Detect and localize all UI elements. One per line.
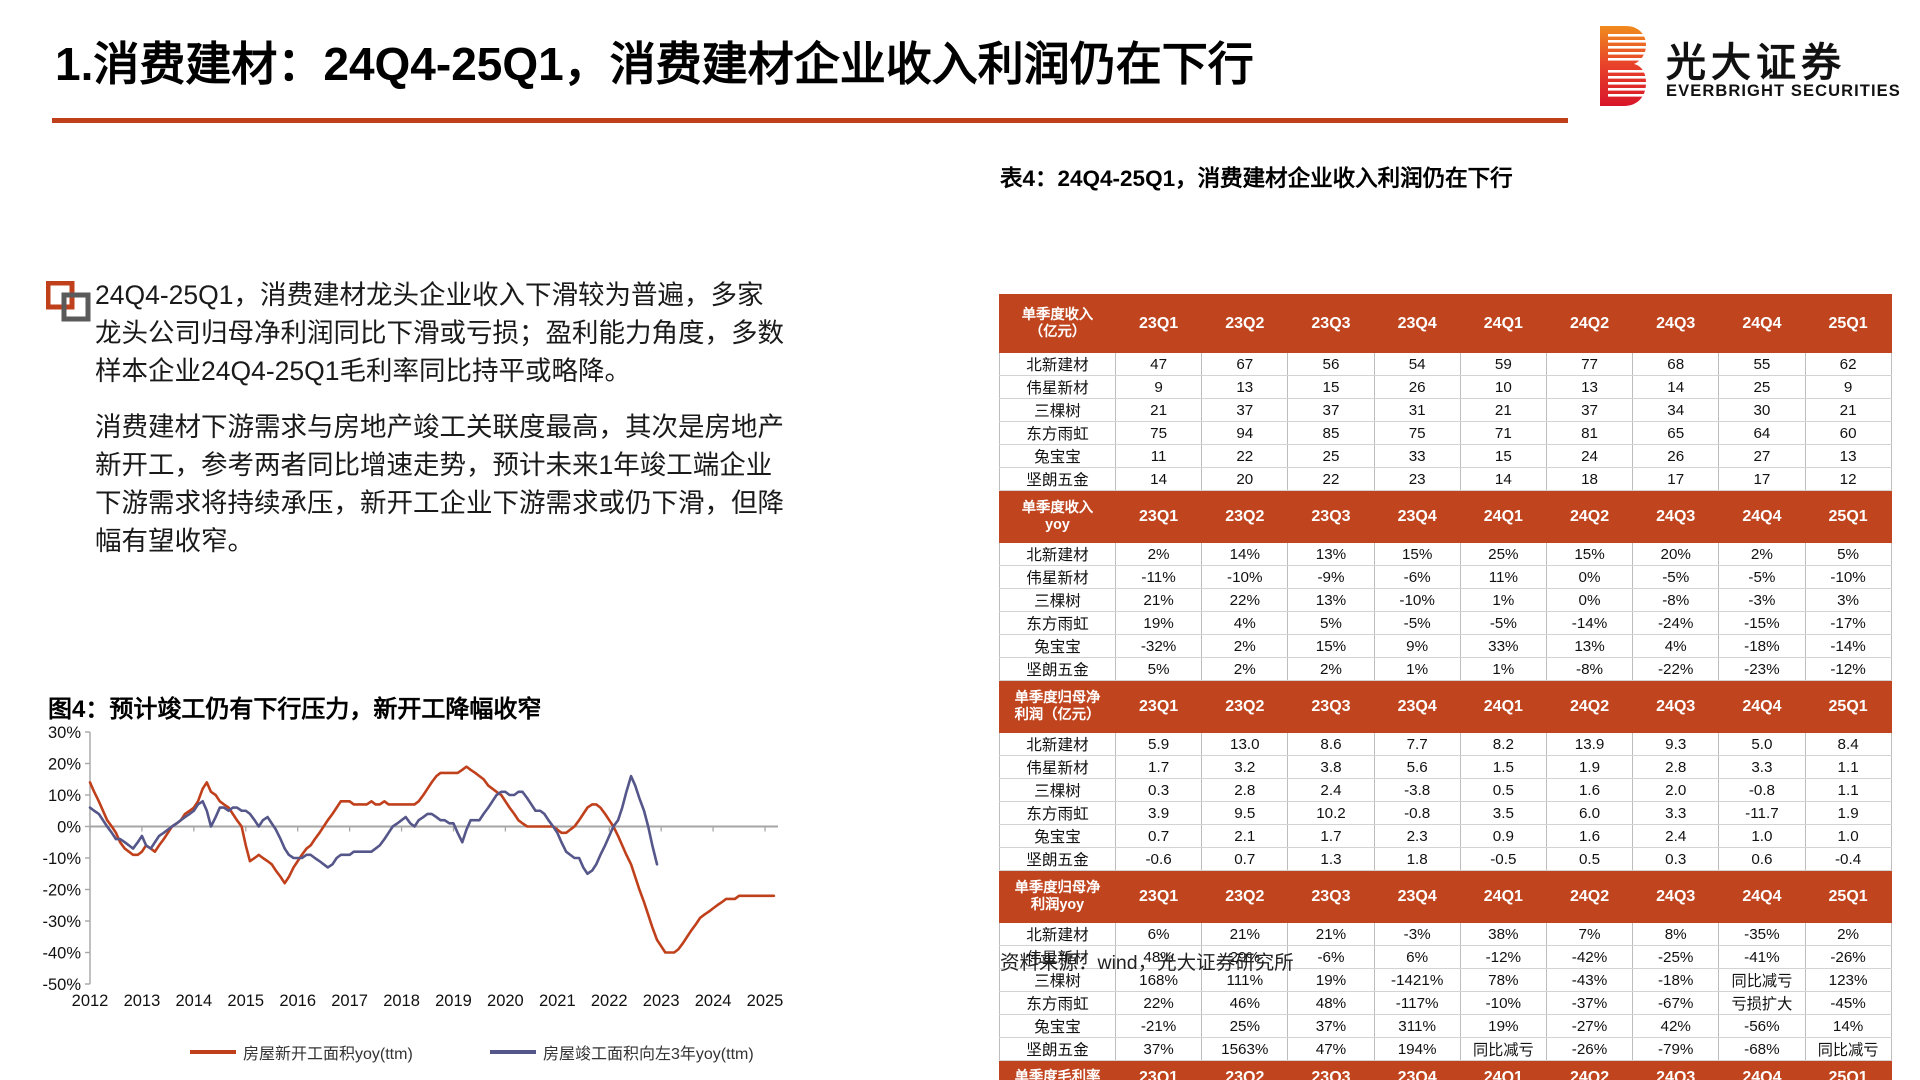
x-tick-label: 2017	[331, 992, 368, 1010]
column-header-23q4: 23Q4	[1374, 681, 1460, 733]
table-row: 兔宝宝-32%2%15%9%33%13%4%-18%-14%	[1000, 635, 1892, 658]
column-header-23q2: 23Q2	[1202, 491, 1288, 543]
chart-canvas: 30%20%10%0%-10%-20%-30%-40%-50%201220132…	[24, 724, 784, 1024]
table-cell: 0.3	[1633, 848, 1719, 871]
table-cell: 17	[1633, 468, 1719, 491]
table-cell: 1.0	[1719, 825, 1805, 848]
table-cell: 13	[1805, 445, 1891, 468]
table-row: 北新建材6%21%21%-3%38%7%8%-35%2%	[1000, 923, 1892, 946]
row-label: 北新建材	[1000, 923, 1116, 946]
page-title: 1.消费建材：24Q4-25Q1，消费建材企业收入利润仍在下行	[55, 28, 1254, 94]
table-cell: 4%	[1202, 612, 1288, 635]
table-cell: 11	[1116, 445, 1202, 468]
table-cell: 0.5	[1460, 779, 1546, 802]
y-tick-label: -20%	[42, 882, 81, 900]
series-line-1	[90, 776, 657, 874]
table-cell: 8.4	[1805, 733, 1891, 756]
table-cell: -35%	[1719, 923, 1805, 946]
table-cell: -41%	[1719, 946, 1805, 969]
table-cell: 25%	[1460, 543, 1546, 566]
table-cell: 48%	[1288, 992, 1374, 1015]
table-cell: 2%	[1719, 543, 1805, 566]
table-row: 东方雨虹22%46%48%-117%-10%-37%-67%亏损扩大-45%	[1000, 992, 1892, 1015]
table-cell: 68	[1633, 353, 1719, 376]
table-cell: 47	[1116, 353, 1202, 376]
column-header-24q1: 24Q1	[1460, 681, 1546, 733]
table-cell: -12%	[1460, 946, 1546, 969]
table-cell: -8%	[1633, 589, 1719, 612]
table-cell: 1%	[1374, 658, 1460, 681]
x-tick-label: 2024	[695, 992, 732, 1010]
table-cell: -3.8	[1374, 779, 1460, 802]
row-label: 东方雨虹	[1000, 612, 1116, 635]
row-label: 坚朗五金	[1000, 658, 1116, 681]
table-row: 伟星新材1.73.23.85.61.51.92.83.31.1	[1000, 756, 1892, 779]
table-cell: 60	[1805, 422, 1891, 445]
table-cell: 7%	[1546, 923, 1632, 946]
table-cell: 15%	[1374, 543, 1460, 566]
table-cell: -10%	[1460, 992, 1546, 1015]
right-table-column: 表4：24Q4-25Q1，消费建材企业收入利润仍在下行 单季度收入（亿元）23Q…	[995, 128, 1920, 1080]
x-tick-label: 2022	[591, 992, 628, 1010]
table-cell: 85	[1288, 422, 1374, 445]
legend-label-1: 房屋竣工面积向左3年yoy(ttm)	[543, 1040, 754, 1064]
table-cell: 13	[1546, 376, 1632, 399]
line-chart: 30%20%10%0%-10%-20%-30%-40%-50%201220132…	[24, 724, 784, 1024]
column-header-24q3: 24Q3	[1633, 491, 1719, 543]
table-cell: 19%	[1288, 969, 1374, 992]
column-header-24q3: 24Q3	[1633, 1061, 1719, 1080]
column-header-23q3: 23Q3	[1288, 871, 1374, 923]
y-tick-label: 20%	[48, 756, 81, 774]
legend-swatch-0	[190, 1050, 236, 1054]
x-tick-label: 2016	[279, 992, 316, 1010]
table-cell: 7.7	[1374, 733, 1460, 756]
table-cell: 1.7	[1116, 756, 1202, 779]
table-cell: 0%	[1546, 589, 1632, 612]
left-content-column: 24Q4-25Q1，消费建材龙头企业收入下滑较为普遍，多家龙头公司归母净利润同比…	[0, 128, 990, 1080]
column-header-25q1: 25Q1	[1805, 295, 1891, 353]
column-header-24q3: 24Q3	[1633, 871, 1719, 923]
table-cell: -32%	[1116, 635, 1202, 658]
row-label: 东方雨虹	[1000, 992, 1116, 1015]
chart-legend: 房屋新开工面积yoy(ttm) 房屋竣工面积向左3年yoy(ttm)	[190, 1040, 790, 1068]
table-cell: 62	[1805, 353, 1891, 376]
table-cell: -12%	[1805, 658, 1891, 681]
column-header-23q2: 23Q2	[1202, 681, 1288, 733]
table-cell: -10%	[1374, 589, 1460, 612]
table-cell: 71	[1460, 422, 1546, 445]
column-header-24q4: 24Q4	[1719, 295, 1805, 353]
table-cell: -42%	[1546, 946, 1632, 969]
table-cell: 33%	[1460, 635, 1546, 658]
table-row: 北新建材476756545977685562	[1000, 353, 1892, 376]
table-cell: 19%	[1116, 612, 1202, 635]
table-cell: 1.0	[1805, 825, 1891, 848]
table-cell: 1.9	[1546, 756, 1632, 779]
column-header-24q3: 24Q3	[1633, 681, 1719, 733]
table-cell: 21	[1805, 399, 1891, 422]
row-label: 坚朗五金	[1000, 848, 1116, 871]
legend-label-0: 房屋新开工面积yoy(ttm)	[243, 1040, 413, 1064]
legend-item-1: 房屋竣工面积向左3年yoy(ttm)	[490, 1040, 754, 1064]
legend-item-0: 房屋新开工面积yoy(ttm)	[190, 1040, 413, 1064]
table-cell: 311%	[1374, 1015, 1460, 1038]
table-row: 坚朗五金37%1563%47%194%同比减亏-26%-79%-68%同比减亏	[1000, 1038, 1892, 1061]
column-header-23q4: 23Q4	[1374, 1061, 1460, 1080]
column-header-24q2: 24Q2	[1546, 295, 1632, 353]
x-tick-label: 2013	[124, 992, 161, 1010]
table-cell: 0.9	[1460, 825, 1546, 848]
y-tick-label: 0%	[57, 819, 81, 837]
table-cell: 37%	[1116, 1038, 1202, 1061]
table-cell: 94	[1202, 422, 1288, 445]
table-row: 三棵树0.32.82.4-3.80.51.62.0-0.81.1	[1000, 779, 1892, 802]
table-cell: 15	[1460, 445, 1546, 468]
table-cell: 1.5	[1460, 756, 1546, 779]
table-cell: 同比减亏	[1460, 1038, 1546, 1061]
table-cell: 25%	[1202, 1015, 1288, 1038]
table-cell: 2%	[1202, 658, 1288, 681]
table-cell: -6%	[1288, 946, 1374, 969]
table-cell: 5.6	[1374, 756, 1460, 779]
table-cell: -15%	[1719, 612, 1805, 635]
table-cell: 78%	[1460, 969, 1546, 992]
table-cell: -14%	[1546, 612, 1632, 635]
table-cell: 9	[1805, 376, 1891, 399]
column-header-23q3: 23Q3	[1288, 681, 1374, 733]
table-cell: -25%	[1633, 946, 1719, 969]
column-header-23q2: 23Q2	[1202, 295, 1288, 353]
row-label: 三棵树	[1000, 399, 1116, 422]
section-header-label: 单季度毛利率	[1000, 1061, 1116, 1080]
column-header-24q4: 24Q4	[1719, 1061, 1805, 1080]
table-cell: 2.4	[1633, 825, 1719, 848]
x-tick-label: 2023	[643, 992, 680, 1010]
row-label: 北新建材	[1000, 543, 1116, 566]
table-cell: -79%	[1633, 1038, 1719, 1061]
table-cell: 1.9	[1805, 802, 1891, 825]
table-cell: -37%	[1546, 992, 1632, 1015]
double-square-bullet-icon	[46, 281, 92, 323]
table-cell: 22%	[1116, 992, 1202, 1015]
table-cell: 21%	[1202, 923, 1288, 946]
table-cell: 38%	[1460, 923, 1546, 946]
row-label: 三棵树	[1000, 589, 1116, 612]
table-cell: 75	[1116, 422, 1202, 445]
table-cell: 26	[1374, 376, 1460, 399]
table-cell: 1.6	[1546, 779, 1632, 802]
table-cell: -10%	[1805, 566, 1891, 589]
table-cell: 5%	[1805, 543, 1891, 566]
table-cell: -45%	[1805, 992, 1891, 1015]
table-cell: 4%	[1633, 635, 1719, 658]
table-cell: -9%	[1288, 566, 1374, 589]
x-tick-label: 2015	[227, 992, 264, 1010]
column-header-23q1: 23Q1	[1116, 491, 1202, 543]
column-header-23q2: 23Q2	[1202, 1061, 1288, 1080]
table-cell: -10%	[1202, 566, 1288, 589]
x-tick-label: 2021	[539, 992, 576, 1010]
table-cell: -56%	[1719, 1015, 1805, 1038]
table-cell: 1563%	[1202, 1038, 1288, 1061]
y-tick-label: 10%	[48, 787, 81, 805]
table-cell: 14%	[1805, 1015, 1891, 1038]
table-cell: 5.9	[1116, 733, 1202, 756]
x-tick-label: 2025	[747, 992, 784, 1010]
column-header-24q2: 24Q2	[1546, 491, 1632, 543]
table-cell: 20	[1202, 468, 1288, 491]
table-cell: 33	[1374, 445, 1460, 468]
table-cell: 22	[1288, 468, 1374, 491]
summary-paragraph-1: 24Q4-25Q1，消费建材龙头企业收入下滑较为普遍，多家龙头公司归母净利润同比…	[95, 276, 785, 390]
column-header-24q4: 24Q4	[1719, 871, 1805, 923]
x-tick-label: 2020	[487, 992, 524, 1010]
column-header-23q2: 23Q2	[1202, 871, 1288, 923]
row-label: 北新建材	[1000, 353, 1116, 376]
table-cell: 27	[1719, 445, 1805, 468]
table-cell: 18	[1546, 468, 1632, 491]
column-header-24q2: 24Q2	[1546, 871, 1632, 923]
table-cell: 11%	[1460, 566, 1546, 589]
column-header-23q1: 23Q1	[1116, 1061, 1202, 1080]
table-cell: 13	[1202, 376, 1288, 399]
row-label: 伟星新材	[1000, 376, 1116, 399]
table-section-header: 单季度毛利率23Q123Q223Q323Q424Q124Q224Q324Q425…	[1000, 1061, 1892, 1080]
table-cell: 75	[1374, 422, 1460, 445]
table-cell: -0.6	[1116, 848, 1202, 871]
table-cell: 0.7	[1116, 825, 1202, 848]
table-cell: 10	[1460, 376, 1546, 399]
table-cell: -0.8	[1374, 802, 1460, 825]
logo-chinese-name: 光大证券	[1666, 30, 1846, 88]
table-cell: 13%	[1288, 543, 1374, 566]
table-cell: 12	[1805, 468, 1891, 491]
slide-page: 1.消费建材：24Q4-25Q1，消费建材企业收入利润仍在下行	[0, 0, 1920, 1080]
table-cell: 19%	[1460, 1015, 1546, 1038]
table-cell: 22%	[1202, 589, 1288, 612]
column-header-23q3: 23Q3	[1288, 295, 1374, 353]
table-cell: -3%	[1374, 923, 1460, 946]
column-header-25q1: 25Q1	[1805, 1061, 1891, 1080]
table-cell: 0.7	[1202, 848, 1288, 871]
table-cell: -5%	[1719, 566, 1805, 589]
series-line-0	[90, 767, 774, 953]
x-tick-label: 2014	[175, 992, 212, 1010]
table-cell: -1421%	[1374, 969, 1460, 992]
table-cell: 65	[1633, 422, 1719, 445]
column-header-23q4: 23Q4	[1374, 491, 1460, 543]
table-cell: 67	[1202, 353, 1288, 376]
column-header-23q1: 23Q1	[1116, 871, 1202, 923]
table-cell: 81	[1546, 422, 1632, 445]
column-header-25q1: 25Q1	[1805, 491, 1891, 543]
table-cell: -68%	[1719, 1038, 1805, 1061]
row-label: 北新建材	[1000, 733, 1116, 756]
table-section-header: 单季度归母净利润（亿元）23Q123Q223Q323Q424Q124Q224Q3…	[1000, 681, 1892, 733]
table-cell: 10.2	[1288, 802, 1374, 825]
table-cell: 59	[1460, 353, 1546, 376]
table-cell: 15	[1288, 376, 1374, 399]
table-row: 三棵树21%22%13%-10%1%0%-8%-3%3%	[1000, 589, 1892, 612]
table-row: 三棵树213737312137343021	[1000, 399, 1892, 422]
section-header-label: 单季度收入yoy	[1000, 491, 1116, 543]
table-cell: 0.5	[1546, 848, 1632, 871]
table-cell: 9.3	[1633, 733, 1719, 756]
column-header-23q4: 23Q4	[1374, 295, 1460, 353]
x-tick-label: 2012	[72, 992, 109, 1010]
table-cell: 77	[1546, 353, 1632, 376]
table-cell: 22	[1202, 445, 1288, 468]
column-header-24q4: 24Q4	[1719, 491, 1805, 543]
table-cell: 2%	[1202, 635, 1288, 658]
table-cell: 3.5	[1460, 802, 1546, 825]
row-label: 坚朗五金	[1000, 468, 1116, 491]
table-cell: 1.3	[1288, 848, 1374, 871]
table-cell: -17%	[1805, 612, 1891, 635]
row-label: 兔宝宝	[1000, 445, 1116, 468]
table-cell: -23%	[1719, 658, 1805, 681]
table-cell: 3%	[1805, 589, 1891, 612]
table-cell: 5%	[1288, 612, 1374, 635]
table-section-header: 单季度归母净利润yoy23Q123Q223Q323Q424Q124Q224Q32…	[1000, 871, 1892, 923]
table-cell: 46%	[1202, 992, 1288, 1015]
table-section-header: 单季度收入yoy23Q123Q223Q323Q424Q124Q224Q324Q4…	[1000, 491, 1892, 543]
column-header-24q1: 24Q1	[1460, 1061, 1546, 1080]
table-cell: -3%	[1719, 589, 1805, 612]
slide-header: 1.消费建材：24Q4-25Q1，消费建材企业收入利润仍在下行	[0, 0, 1920, 128]
table-cell: 8.2	[1460, 733, 1546, 756]
everbright-logo-mark-icon	[1600, 26, 1646, 106]
table-cell: -21%	[1116, 1015, 1202, 1038]
table-cell: 8.6	[1288, 733, 1374, 756]
table-section-header: 单季度收入（亿元）23Q123Q223Q323Q424Q124Q224Q324Q…	[1000, 295, 1892, 353]
table-cell: -43%	[1546, 969, 1632, 992]
row-label: 兔宝宝	[1000, 635, 1116, 658]
table-cell: 2.0	[1633, 779, 1719, 802]
table-cell: 3.3	[1633, 802, 1719, 825]
table-cell: 0%	[1546, 566, 1632, 589]
table-cell: -0.4	[1805, 848, 1891, 871]
table-cell: 21%	[1288, 923, 1374, 946]
table-cell: 42%	[1633, 1015, 1719, 1038]
table-row: 坚朗五金-0.60.71.31.8-0.50.50.30.6-0.4	[1000, 848, 1892, 871]
table-cell: 21	[1460, 399, 1546, 422]
table-cell: 13.9	[1546, 733, 1632, 756]
y-tick-label: -30%	[42, 913, 81, 931]
table-cell: 2%	[1288, 658, 1374, 681]
column-header-24q1: 24Q1	[1460, 295, 1546, 353]
table-cell: 31	[1374, 399, 1460, 422]
table-cell: 26	[1633, 445, 1719, 468]
table-cell: 5.0	[1719, 733, 1805, 756]
column-header-23q1: 23Q1	[1116, 295, 1202, 353]
table-cell: 37	[1288, 399, 1374, 422]
column-header-24q1: 24Q1	[1460, 491, 1546, 543]
table-row: 兔宝宝112225331524262713	[1000, 445, 1892, 468]
table-cell: 9.5	[1202, 802, 1288, 825]
title-underline-rule	[52, 118, 1568, 123]
table-cell: -18%	[1633, 969, 1719, 992]
table-cell: 2.1	[1202, 825, 1288, 848]
table-cell: 6%	[1116, 923, 1202, 946]
table-cell: -22%	[1633, 658, 1719, 681]
table-cell: 14%	[1202, 543, 1288, 566]
table-cell: -11%	[1116, 566, 1202, 589]
table-cell: 23	[1374, 468, 1460, 491]
table-cell: 5%	[1116, 658, 1202, 681]
row-label: 伟星新材	[1000, 566, 1116, 589]
table-cell: 34	[1633, 399, 1719, 422]
y-tick-label: 30%	[48, 724, 81, 742]
table-row: 伟星新材-11%-10%-9%-6%11%0%-5%-5%-10%	[1000, 566, 1892, 589]
table-title: 表4：24Q4-25Q1，消费建材企业收入利润仍在下行	[1000, 161, 1513, 193]
table-cell: -18%	[1719, 635, 1805, 658]
table-cell: 2.8	[1202, 779, 1288, 802]
column-header-23q4: 23Q4	[1374, 871, 1460, 923]
table-cell: 20%	[1633, 543, 1719, 566]
x-tick-label: 2019	[435, 992, 472, 1010]
table-cell: -0.5	[1460, 848, 1546, 871]
table-cell: 3.2	[1202, 756, 1288, 779]
table-cell: 1%	[1460, 658, 1546, 681]
table-cell: 0.6	[1719, 848, 1805, 871]
summary-paragraph-2: 消费建材下游需求与房地产竣工关联度最高，其次是房地产新开工，参考两者同比增速走势…	[95, 408, 785, 560]
table-cell: 0.3	[1116, 779, 1202, 802]
row-label: 兔宝宝	[1000, 1015, 1116, 1038]
table-cell: 2.3	[1374, 825, 1460, 848]
y-tick-label: -40%	[42, 945, 81, 963]
table-cell: -5%	[1374, 612, 1460, 635]
table-cell: 54	[1374, 353, 1460, 376]
table-row: 北新建材2%14%13%15%25%15%20%2%5%	[1000, 543, 1892, 566]
column-header-23q1: 23Q1	[1116, 681, 1202, 733]
table-row: 伟星新材9131526101314259	[1000, 376, 1892, 399]
table-row: 兔宝宝-21%25%37%311%19%-27%42%-56%14%	[1000, 1015, 1892, 1038]
table-cell: 13%	[1546, 635, 1632, 658]
table-cell: 2%	[1805, 923, 1891, 946]
table-cell: 14	[1633, 376, 1719, 399]
table-cell: 6%	[1374, 946, 1460, 969]
table-cell: 15%	[1288, 635, 1374, 658]
table-cell: -27%	[1546, 1015, 1632, 1038]
table-cell: -26%	[1546, 1038, 1632, 1061]
table-cell: 1.1	[1805, 779, 1891, 802]
table-cell: -0.8	[1719, 779, 1805, 802]
table-cell: 1.7	[1288, 825, 1374, 848]
table-cell: 2.8	[1633, 756, 1719, 779]
table-cell: 194%	[1374, 1038, 1460, 1061]
table-cell: 123%	[1805, 969, 1891, 992]
table-cell: 55	[1719, 353, 1805, 376]
table-row: 坚朗五金142022231418171712	[1000, 468, 1892, 491]
row-label: 东方雨虹	[1000, 802, 1116, 825]
table-source-note: 资料来源：wind，光大证券研究所	[1000, 946, 1294, 975]
section-header-label: 单季度归母净利润yoy	[1000, 871, 1116, 923]
table-cell: 9%	[1374, 635, 1460, 658]
table-cell: 8%	[1633, 923, 1719, 946]
column-header-24q4: 24Q4	[1719, 681, 1805, 733]
table-cell: 30	[1719, 399, 1805, 422]
table-row: 东方雨虹3.99.510.2-0.83.56.03.3-11.71.9	[1000, 802, 1892, 825]
table-cell: 15%	[1546, 543, 1632, 566]
table-cell: 47%	[1288, 1038, 1374, 1061]
table-cell: -24%	[1633, 612, 1719, 635]
legend-swatch-1	[490, 1050, 536, 1054]
table-cell: 亏损扩大	[1719, 992, 1805, 1015]
table-cell: 2.4	[1288, 779, 1374, 802]
table-row: 东方雨虹759485757181656460	[1000, 422, 1892, 445]
